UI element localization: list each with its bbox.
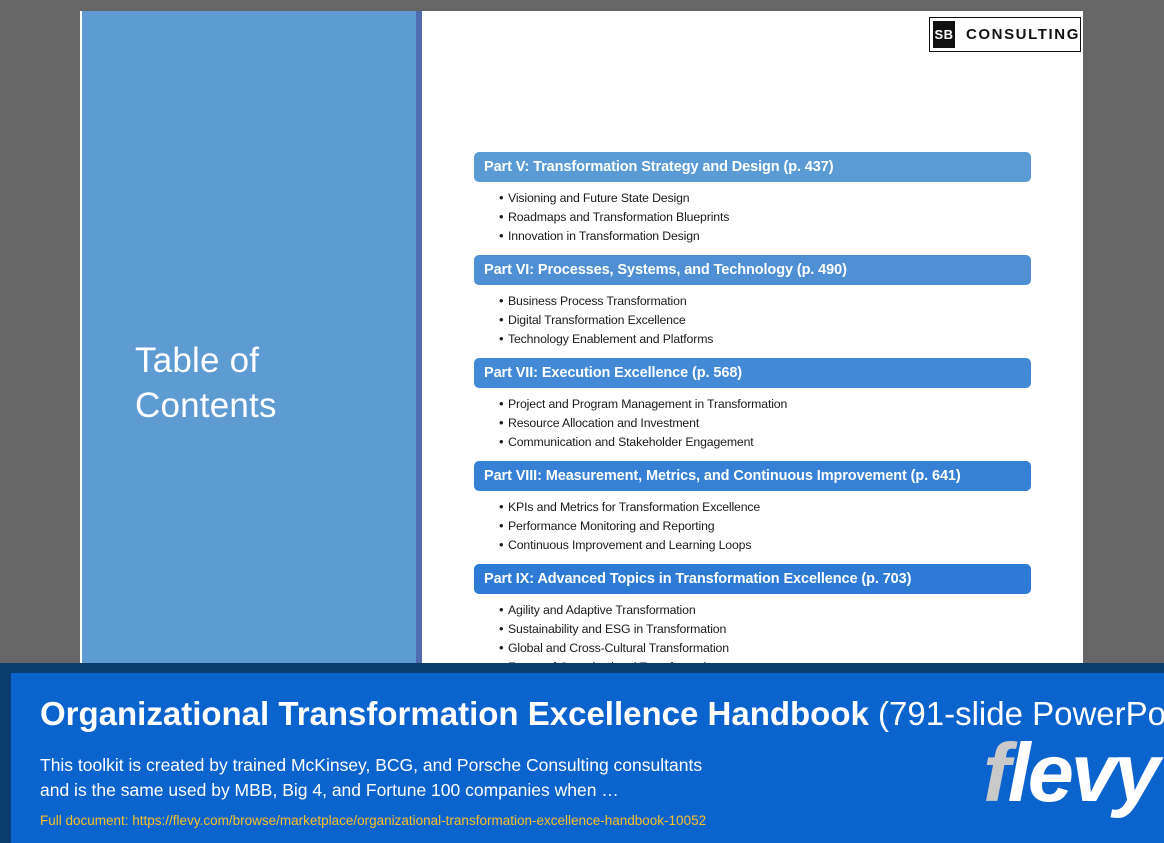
section-header-bar[interactable]: Part VIII: Measurement, Metrics, and Con… <box>474 461 1031 491</box>
table-of-contents-title: Table of Contents <box>135 338 385 428</box>
flevy-promo-banner: Organizational Transformation Excellence… <box>0 663 1164 843</box>
toc-section: Part VIII: Measurement, Metrics, and Con… <box>474 461 1031 559</box>
list-item: Continuous Improvement and Learning Loop… <box>499 536 1031 555</box>
toc-title-line-2: Contents <box>135 383 385 428</box>
banner-subtitle: This toolkit is created by trained McKin… <box>40 753 702 803</box>
list-item: Visioning and Future State Design <box>499 189 1031 208</box>
list-item: Performance Monitoring and Reporting <box>499 517 1031 536</box>
section-bullet-list: Visioning and Future State Design Roadma… <box>474 182 1031 250</box>
list-item: Roadmaps and Transformation Blueprints <box>499 208 1031 227</box>
list-item: Global and Cross-Cultural Transformation <box>499 639 1031 658</box>
section-bullet-list: Agility and Adaptive Transformation Sust… <box>474 594 1031 663</box>
list-item: Resource Allocation and Investment <box>499 414 1031 433</box>
list-item: Agility and Adaptive Transformation <box>499 601 1031 620</box>
toc-section: Part VI: Processes, Systems, and Technol… <box>474 255 1031 353</box>
section-header-bar[interactable]: Part IX: Advanced Topics in Transformati… <box>474 564 1031 594</box>
sb-logo-wordmark: CONSULTING <box>966 26 1080 43</box>
list-item: KPIs and Metrics for Transformation Exce… <box>499 498 1031 517</box>
banner-subtitle-line-1: This toolkit is created by trained McKin… <box>40 753 702 778</box>
list-item: Digital Transformation Excellence <box>499 311 1031 330</box>
section-bullet-list: Business Process Transformation Digital … <box>474 285 1031 353</box>
flevy-logo[interactable]: flevy <box>983 731 1157 814</box>
section-header-bar[interactable]: Part V: Transformation Strategy and Desi… <box>474 152 1031 182</box>
list-item: Communication and Stakeholder Engagement <box>499 433 1031 452</box>
list-item: Project and Program Management in Transf… <box>499 395 1031 414</box>
toc-section: Part VII: Execution Excellence (p. 568) … <box>474 358 1031 456</box>
flevy-promo-banner-inner: Organizational Transformation Excellence… <box>11 673 1164 843</box>
list-item: Innovation in Transformation Design <box>499 227 1031 246</box>
section-header-bar[interactable]: Part VII: Execution Excellence (p. 568) <box>474 358 1031 388</box>
slide-viewer-backdrop: Table of Contents SB CONSULTING Part V: … <box>0 0 1164 843</box>
banner-document-url[interactable]: Full document: https://flevy.com/browse/… <box>40 813 706 828</box>
toc-left-accent-strip <box>416 11 422 663</box>
toc-title-line-1: Table of <box>135 338 385 383</box>
section-bullet-list: KPIs and Metrics for Transformation Exce… <box>474 491 1031 559</box>
list-item: Business Process Transformation <box>499 292 1031 311</box>
slide-canvas: Table of Contents SB CONSULTING Part V: … <box>80 11 1083 663</box>
toc-sections-list: Part V: Transformation Strategy and Desi… <box>474 152 1031 663</box>
banner-title-bold: Organizational Transformation Excellence… <box>40 695 869 732</box>
sb-logo-badge: SB <box>933 21 955 48</box>
banner-subtitle-line-2: and is the same used by MBB, Big 4, and … <box>40 778 702 803</box>
sb-consulting-logo: SB CONSULTING <box>929 17 1081 52</box>
list-item: Technology Enablement and Platforms <box>499 330 1031 349</box>
list-item: Sustainability and ESG in Transformation <box>499 620 1031 639</box>
section-header-bar[interactable]: Part VI: Processes, Systems, and Technol… <box>474 255 1031 285</box>
toc-section: Part IX: Advanced Topics in Transformati… <box>474 564 1031 663</box>
toc-section: Part V: Transformation Strategy and Desi… <box>474 152 1031 250</box>
flevy-logo-levy: levy <box>1008 726 1158 819</box>
section-bullet-list: Project and Program Management in Transf… <box>474 388 1031 456</box>
flevy-logo-f: f <box>983 726 1008 819</box>
toc-left-panel <box>82 11 416 663</box>
